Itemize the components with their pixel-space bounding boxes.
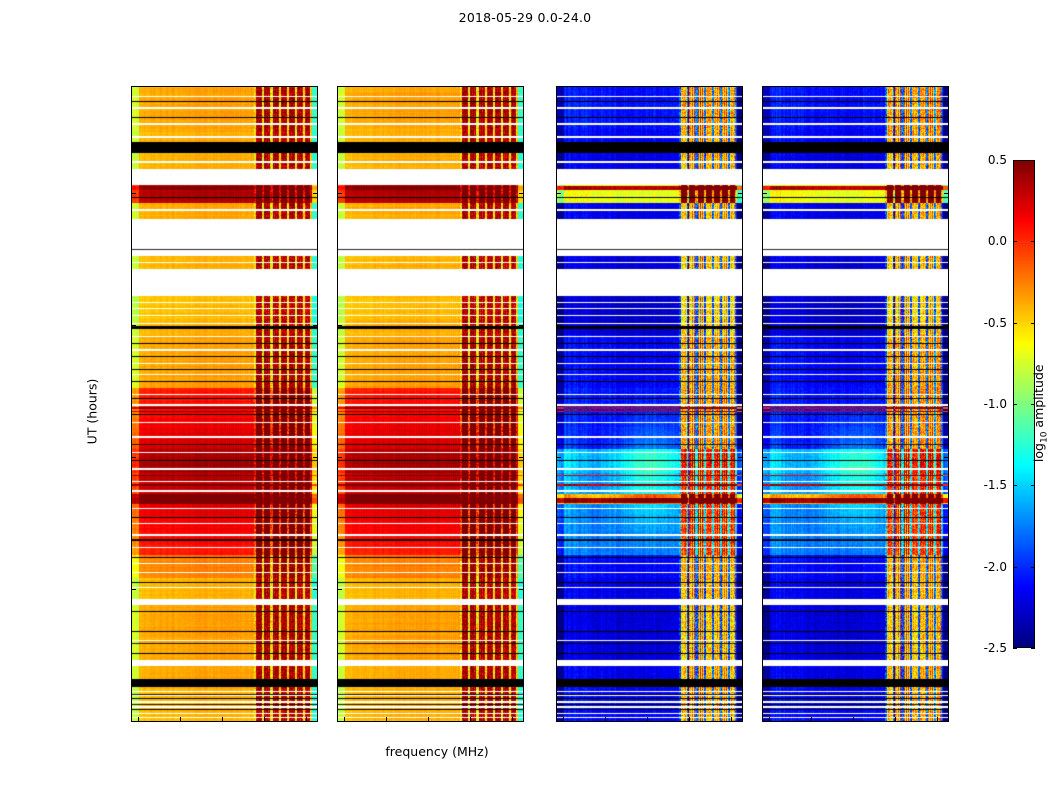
- dynamic-spectrum-yy: [338, 87, 523, 721]
- colorbar-label-main: log: [1031, 443, 1046, 462]
- colorbar-tick-mark: [1013, 160, 1017, 161]
- x-tick-mark: [811, 717, 812, 721]
- y-tick-mark: [132, 193, 136, 194]
- colorbar-tick-mark: [1031, 160, 1035, 161]
- y-tick-mark: [557, 589, 561, 590]
- y-tick-mark: [519, 193, 523, 194]
- y-tick-mark: [738, 193, 742, 194]
- x-tick-mark: [470, 717, 471, 721]
- colorbar-tick-mark: [1013, 241, 1017, 242]
- y-tick-mark: [763, 457, 767, 458]
- x-tick-mark: [605, 717, 606, 721]
- y-tick-mark: [763, 193, 767, 194]
- y-tick-mark: [944, 193, 948, 194]
- spectrum-panel-xx[interactable]: XX, V9=EA1832033535036538005101520: [131, 86, 318, 722]
- x-axis-label: frequency (MHz): [337, 744, 537, 759]
- y-tick-mark: [738, 325, 742, 326]
- x-tick-mark: [512, 717, 513, 721]
- colorbar-tick-mark: [1013, 404, 1017, 405]
- dynamic-spectrum-yx: [763, 87, 948, 721]
- y-tick-mark: [944, 325, 948, 326]
- y-tick-mark: [132, 589, 136, 590]
- x-tick-mark: [689, 717, 690, 721]
- dynamic-spectrum-xy: [557, 87, 742, 721]
- colorbar-tick-label: -2.5: [984, 641, 1007, 655]
- x-tick-mark: [180, 717, 181, 721]
- y-tick-mark: [132, 721, 136, 722]
- y-axis-label: UT (hours): [85, 312, 100, 512]
- colorbar-tick-mark: [1031, 241, 1035, 242]
- colorbar-tick-mark: [1013, 648, 1017, 649]
- x-tick-mark: [731, 717, 732, 721]
- colorbar-label-sub: 10: [1039, 432, 1049, 443]
- y-tick-mark: [519, 325, 523, 326]
- x-tick-mark: [344, 717, 345, 721]
- y-tick-mark: [313, 457, 317, 458]
- y-tick-mark: [313, 721, 317, 722]
- y-tick-mark: [313, 325, 317, 326]
- colorbar-tick-label: -2.0: [984, 560, 1007, 574]
- figure-title: 2018-05-29 0.0-24.0: [0, 10, 1050, 25]
- colorbar-tick-mark: [1031, 567, 1035, 568]
- y-tick-mark: [557, 457, 561, 458]
- y-tick-mark: [338, 721, 342, 722]
- colorbar-tick-label: -1.5: [984, 478, 1007, 492]
- y-tick-mark: [338, 589, 342, 590]
- x-tick-mark: [895, 717, 896, 721]
- y-tick-mark: [519, 457, 523, 458]
- y-tick-mark: [763, 589, 767, 590]
- colorbar-tick-mark: [1013, 567, 1017, 568]
- y-tick-mark: [519, 721, 523, 722]
- colorbar-tick-label: 0.5: [988, 153, 1007, 167]
- x-tick-mark: [647, 717, 648, 721]
- x-tick-mark: [937, 717, 938, 721]
- colorbar-label-tail: amplitude: [1031, 364, 1046, 431]
- dynamic-spectrum-xx: [132, 87, 317, 721]
- y-tick-mark: [132, 325, 136, 326]
- y-tick-mark: [944, 721, 948, 722]
- colorbar-tick-label: -0.5: [984, 316, 1007, 330]
- colorbar-label: log10 amplitude: [1031, 313, 1050, 513]
- y-tick-mark: [944, 457, 948, 458]
- y-tick-mark: [313, 193, 317, 194]
- y-tick-mark: [338, 325, 342, 326]
- y-tick-mark: [763, 325, 767, 326]
- y-tick-mark: [738, 457, 742, 458]
- x-tick-mark: [769, 717, 770, 721]
- x-tick-mark: [306, 717, 307, 721]
- spectrum-panel-xy[interactable]: XY, V9=EA1832033535036538005101520: [556, 86, 743, 722]
- y-tick-mark: [763, 721, 767, 722]
- y-tick-mark: [557, 721, 561, 722]
- spectrum-panel-yx[interactable]: YX, V9=EA1832033535036538005101520: [762, 86, 949, 722]
- y-tick-mark: [557, 193, 561, 194]
- y-tick-mark: [557, 325, 561, 326]
- y-tick-mark: [313, 589, 317, 590]
- y-tick-mark: [944, 589, 948, 590]
- x-tick-mark: [563, 717, 564, 721]
- x-tick-mark: [428, 717, 429, 721]
- x-tick-mark: [853, 717, 854, 721]
- colorbar-tick-mark: [1031, 648, 1035, 649]
- y-tick-mark: [338, 457, 342, 458]
- spectrum-panel-yy[interactable]: YY, V9=EA1832033535036538005101520: [337, 86, 524, 722]
- x-tick-mark: [264, 717, 265, 721]
- x-tick-mark: [386, 717, 387, 721]
- y-tick-mark: [738, 721, 742, 722]
- x-tick-mark: [222, 717, 223, 721]
- y-tick-mark: [132, 457, 136, 458]
- figure-canvas: 2018-05-29 0.0-24.0 XX, V9=EA18320335350…: [0, 0, 1050, 800]
- colorbar-tick-mark: [1013, 485, 1017, 486]
- colorbar-tick-label: -1.0: [984, 397, 1007, 411]
- x-tick-mark: [138, 717, 139, 721]
- colorbar-tick-mark: [1013, 323, 1017, 324]
- y-tick-mark: [338, 193, 342, 194]
- colorbar-tick-label: 0.0: [988, 234, 1007, 248]
- y-tick-mark: [738, 589, 742, 590]
- y-tick-mark: [519, 589, 523, 590]
